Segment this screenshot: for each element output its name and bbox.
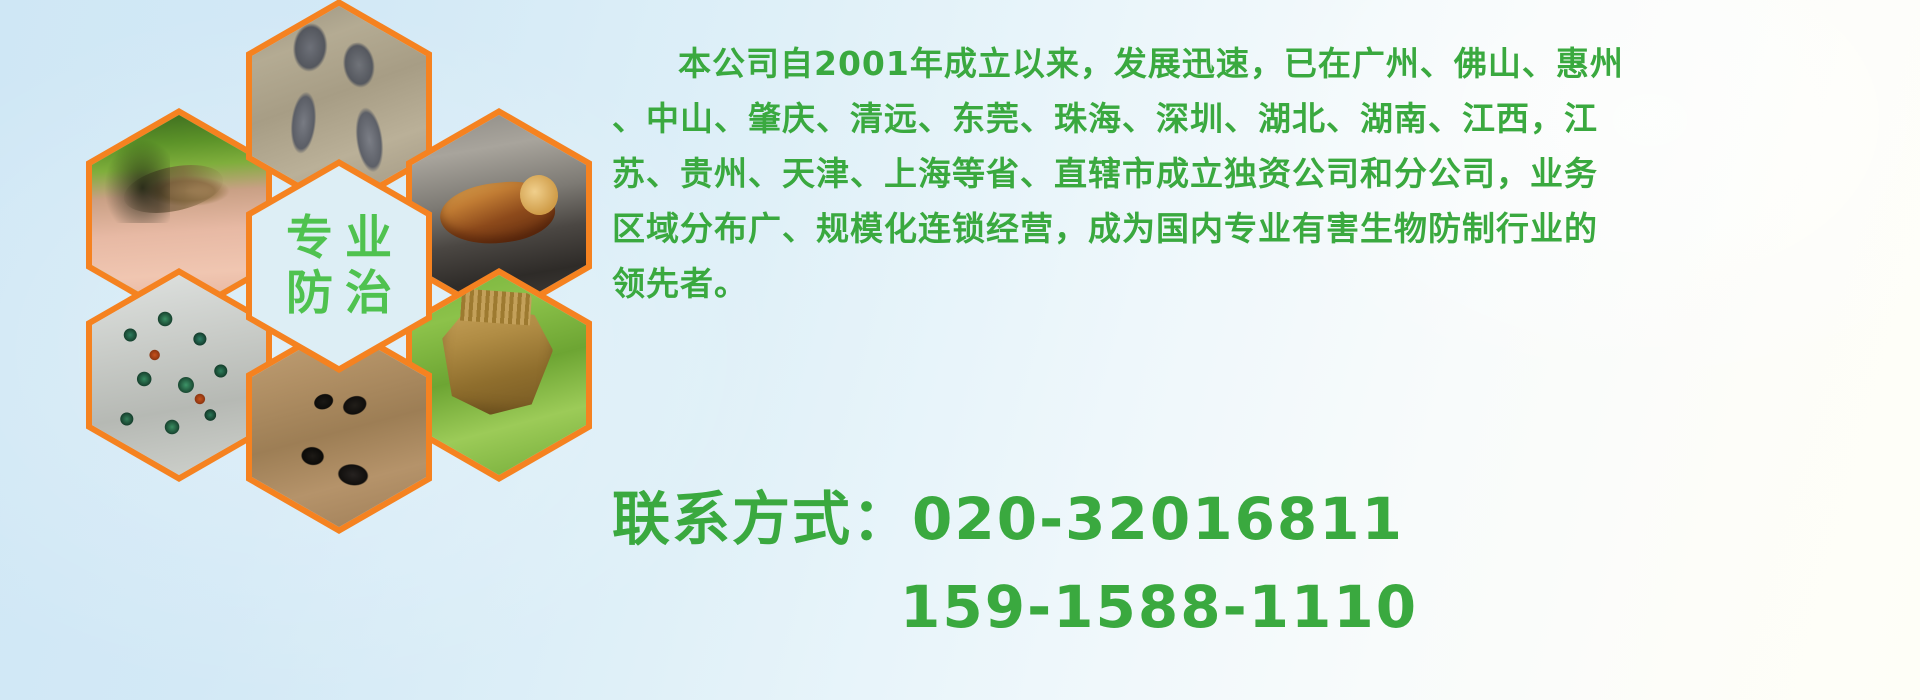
contact-block: 联系方式：020-32016811 159-1588-1110	[612, 475, 1418, 651]
hex-inner	[92, 275, 266, 475]
hex-inner	[412, 275, 586, 475]
hex-cell-slogan: 专业 防治	[246, 159, 432, 373]
flies-photo-icon	[92, 275, 266, 475]
intro-copy: 本公司自2001年成立以来，发展迅速，已在广州、佛山、惠州 、中山、肇庆、清远、…	[612, 36, 1912, 311]
slogan-line-2: 防治	[274, 270, 404, 317]
contact-line-mobile[interactable]: 159-1588-1110	[612, 563, 1418, 651]
intro-line-1: 本公司自2001年成立以来，发展迅速，已在广州、佛山、惠州	[612, 36, 1912, 91]
contact-line-landline[interactable]: 联系方式：020-32016811	[612, 475, 1418, 563]
slogan-line-1: 专业	[274, 215, 404, 262]
slogan: 专业 防治	[252, 166, 426, 366]
stink-bug-photo-icon	[412, 275, 586, 475]
hex-cell-flies[interactable]	[86, 268, 272, 482]
intro-line-3: 苏、贵州、天津、上海等省、直辖市成立独资公司和分公司，业务	[612, 146, 1912, 201]
hex-inner: 专业 防治	[252, 166, 426, 366]
intro-line-2: 、中山、肇庆、清远、东莞、珠海、深圳、湖北、湖南、江西，江	[612, 91, 1912, 146]
intro-line-4: 区域分布广、规模化连锁经营，成为国内专业有害生物防制行业的	[612, 201, 1912, 256]
honeycomb-logo: 专业 防治	[86, 0, 606, 700]
intro-paragraph: 本公司自2001年成立以来，发展迅速，已在广州、佛山、惠州 、中山、肇庆、清远、…	[612, 36, 1912, 311]
intro-line-5: 领先者。	[612, 256, 1912, 311]
hex-cell-stink-bug[interactable]	[406, 268, 592, 482]
